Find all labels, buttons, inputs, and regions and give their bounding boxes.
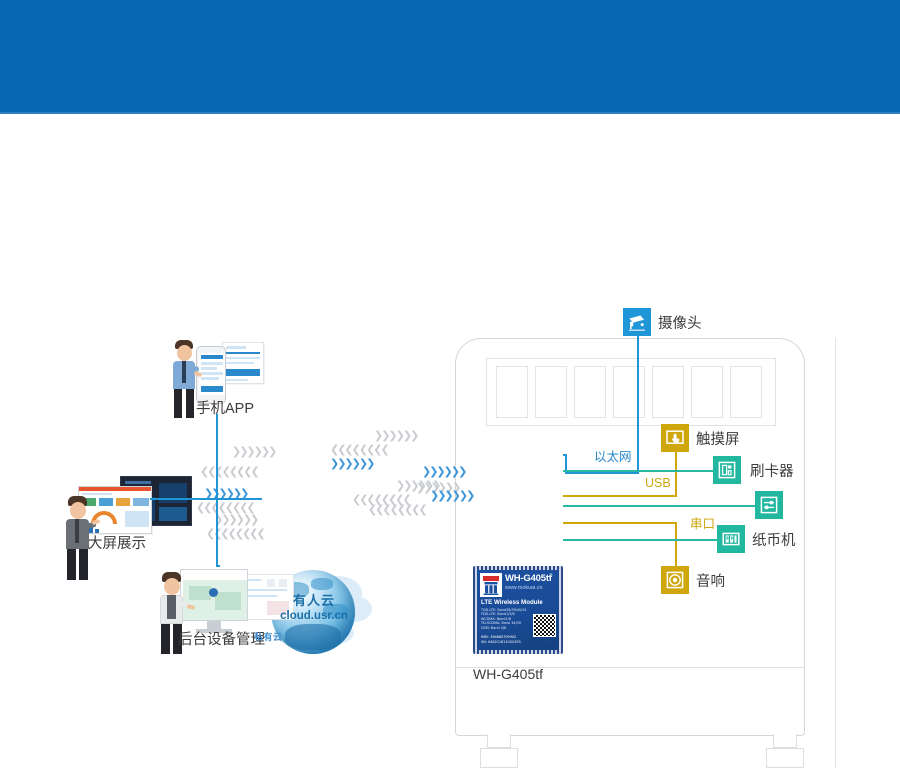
kiosk-product-slot: [535, 366, 567, 418]
card-reader-icon: [717, 460, 737, 480]
app-screenshot-card: [222, 342, 264, 384]
peripheral-speaker[interactable]: [661, 566, 689, 594]
kiosk-product-slot: [730, 366, 762, 418]
peripheral-label-speaker: 音响: [696, 570, 725, 591]
camera-link-vertical: [637, 336, 639, 474]
slider-panel-icon: [759, 495, 779, 515]
arrow-cloud-to-kiosk-forward: ❯❯❯❯❯❯: [330, 458, 373, 469]
touchscreen-link-vertical: [675, 452, 677, 496]
serial-link-vertical: [675, 522, 677, 566]
cloud-bus-line: [216, 498, 262, 500]
right-divider: [835, 338, 836, 768]
peripheral-label-touchscreen: 触摸屏: [696, 428, 740, 449]
arrow-left-top: ❯❯❯❯❯❯: [232, 446, 275, 457]
peripheral-label-bill-machine: 纸币机: [752, 529, 796, 550]
speaker-icon: [665, 570, 685, 590]
link-label-usb: USB: [645, 476, 671, 490]
module-spec-row: GSM: Band 3/8: [481, 626, 529, 630]
arrow-left-mid-back: ❮❮❮❮❮❮❮❮: [196, 502, 254, 513]
module-label-face: WH-G405tf ® www.mokuai.cn LTE Wireless M…: [477, 570, 559, 650]
cloud-name-cn: 有人云: [264, 590, 364, 609]
camera-icon: [627, 312, 647, 332]
actor-label-big-screen: 大屏展示: [88, 532, 146, 553]
wh-g405tf-module[interactable]: WH-G405tf ® www.mokuai.cn LTE Wireless M…: [473, 566, 563, 654]
link-label-ethernet: 以太网: [594, 446, 632, 465]
kiosk-product-slot: [652, 366, 684, 418]
brand-logo-icon: [480, 573, 502, 597]
kiosk-product-slot: [574, 366, 606, 418]
page-header-banner: [0, 0, 900, 112]
peripheral-label-card-reader: 刷卡器: [750, 460, 794, 481]
module-id-list: IMEI: 364660709902SN: 0442C161100C493: [481, 635, 535, 644]
backend-to-cloud-link: [216, 498, 218, 566]
controller-link: [563, 505, 755, 507]
module-model-name: WH-G405tf: [505, 574, 552, 584]
peripheral-controller[interactable]: [755, 491, 783, 519]
bill-machine-link: [563, 539, 718, 541]
arrow-cloud-upper: ❯❯❯❯❯❯: [374, 430, 417, 441]
peripheral-label-camera: 摄像头: [658, 312, 702, 333]
serial-link-horizontal: [563, 522, 675, 524]
peripheral-card-reader[interactable]: [713, 456, 741, 484]
kiosk-leg: [487, 734, 511, 748]
kiosk-product-slot: [613, 366, 645, 418]
backend-link-stub: [216, 565, 220, 567]
private-cloud-label: 私有云: [254, 630, 283, 643]
arrow-kiosk-entry: ❯❯❯❯❯❯: [430, 490, 473, 501]
card-reader-link: [563, 470, 713, 472]
bill-machine-icon: [721, 529, 741, 549]
solution-diagram: 以太网 USB 串口 WH-G405tf ® www.mokuai.cn LTE…: [0, 114, 900, 722]
registered-mark-icon: ®: [549, 573, 553, 579]
module-caption: WH-G405tf: [473, 666, 613, 682]
cloud-name-en: cloud.usr.cn: [264, 610, 364, 622]
kiosk-leg: [773, 734, 797, 748]
arrow-left-upper-back: ❮❮❮❮❮❮❮❮: [200, 466, 258, 477]
module-id-row: SN: 0442C161100C493: [481, 640, 535, 645]
kiosk-foot: [480, 748, 518, 768]
actor-label-backend-mgmt: 后台设备管理: [178, 628, 265, 649]
link-label-serial: 串口: [690, 513, 715, 532]
module-url: www.mokuai.cn: [505, 585, 542, 592]
phone-screen: [199, 353, 225, 395]
kiosk-product-slot: [691, 366, 723, 418]
cloud-name-block: 有人云 cloud.usr.cn: [264, 590, 364, 622]
arrow-kiosk-inbound-forward: ❯❯❯❯❯❯: [422, 466, 465, 477]
kiosk-product-slot: [496, 366, 528, 418]
module-spec-list: TDD-LTE: Band38/39/40/41FDD-LTE: Band1/3…: [481, 608, 529, 630]
touchscreen-icon: [665, 428, 685, 448]
arrow-left-lower-forward: ❯❯❯❯❯❯: [214, 514, 257, 525]
camera-link-horizontal: [565, 472, 639, 474]
usb-link-horizontal: [563, 495, 677, 497]
peripheral-touchscreen[interactable]: [661, 424, 689, 452]
kiosk-foot: [766, 748, 804, 768]
map-monitor: [180, 569, 248, 621]
module-subtitle: LTE Wireless Module: [481, 599, 543, 607]
app-to-cloud-link: [216, 414, 218, 498]
peripheral-camera[interactable]: [623, 308, 651, 336]
qr-code-icon: [533, 614, 556, 637]
peripheral-bill-machine[interactable]: [717, 525, 745, 553]
arrow-cloud-lower: ❮❮❮❮❮❮❮❮: [368, 504, 426, 515]
camera-link-stub: [563, 454, 567, 456]
actor-label-mobile-app: 手机APP: [196, 397, 254, 418]
arrow-cloud-to-kiosk-back: ❮❮❮❮❮❮❮❮: [330, 444, 388, 455]
arrow-left-lowest-back: ❮❮❮❮❮❮❮❮: [206, 528, 264, 539]
